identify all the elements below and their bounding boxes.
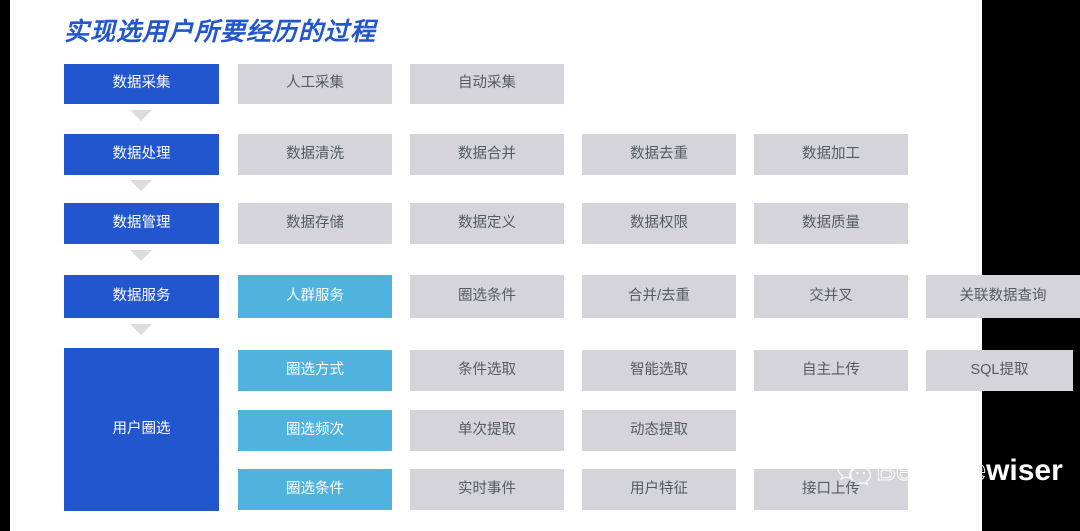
final-row-3-item-1[interactable]: 实时事件 (410, 469, 564, 510)
final-row-1-item-2[interactable]: 智能选取 (582, 350, 736, 391)
stage-1-item-2[interactable]: 自动采集 (410, 64, 564, 104)
final-row-1-item-3[interactable]: 自主上传 (754, 350, 908, 391)
final-row-1-item-4[interactable]: SQL提取 (926, 350, 1073, 391)
watermark-text-bold: wiser (986, 454, 1063, 487)
stage-1-item-1[interactable]: 人工采集 (238, 64, 392, 104)
final-row-1-sublabel[interactable]: 圈选方式 (238, 350, 392, 391)
stage-3-item-2[interactable]: 数据定义 (410, 203, 564, 244)
stage-3-item-3[interactable]: 数据权限 (582, 203, 736, 244)
flow-arrow-3-to-4 (130, 250, 152, 261)
stage-label-1[interactable]: 数据采集 (64, 64, 219, 104)
flow-arrow-4-to-5 (130, 324, 152, 335)
stage-4-item-2[interactable]: 合并/去重 (582, 275, 736, 318)
stage-4-sublabel[interactable]: 人群服务 (238, 275, 392, 318)
final-row-2-item-2[interactable]: 动态提取 (582, 410, 736, 451)
stage-3-item-1[interactable]: 数据存储 (238, 203, 392, 244)
final-row-1-item-1[interactable]: 条件选取 (410, 350, 564, 391)
stage-4-item-3[interactable]: 交并叉 (754, 275, 908, 318)
stage-2-item-4[interactable]: 数据加工 (754, 134, 908, 175)
stage-2-item-1[interactable]: 数据清洗 (238, 134, 392, 175)
stage-label-3[interactable]: 数据管理 (64, 203, 219, 244)
stage-3-item-4[interactable]: 数据质量 (754, 203, 908, 244)
flow-arrow-1-to-2 (130, 110, 152, 121)
final-row-3-item-2[interactable]: 用户特征 (582, 469, 736, 510)
stage-2-item-3[interactable]: 数据去重 (582, 134, 736, 175)
final-row-2-item-1[interactable]: 单次提取 (410, 410, 564, 451)
final-row-3-item-3[interactable]: 接口上传 (754, 469, 908, 510)
final-row-3-sublabel[interactable]: 圈选条件 (238, 469, 392, 510)
flow-arrow-2-to-3 (130, 180, 152, 191)
stage-label-2[interactable]: 数据处理 (64, 134, 219, 175)
page-title: 实现选用户所要经历的过程 (64, 12, 376, 48)
process-flow-diagram: 实现选用户所要经历的过程 数据采集 人工采集 自动采集 数据处理 数据清洗 数据… (0, 0, 1080, 531)
stage-4-item-1[interactable]: 圈选条件 (410, 275, 564, 318)
stage-4-item-4[interactable]: 关联数据查询 (926, 275, 1080, 318)
slide-canvas: 实现选用户所要经历的过程 数据采集 人工采集 自动采集 数据处理 数据清洗 数据… (0, 0, 1080, 531)
final-stage-label[interactable]: 用户圈选 (64, 348, 219, 511)
stage-2-item-2[interactable]: 数据合并 (410, 134, 564, 175)
stage-label-4[interactable]: 数据服务 (64, 275, 219, 318)
final-row-2-sublabel[interactable]: 圈选频次 (238, 410, 392, 451)
